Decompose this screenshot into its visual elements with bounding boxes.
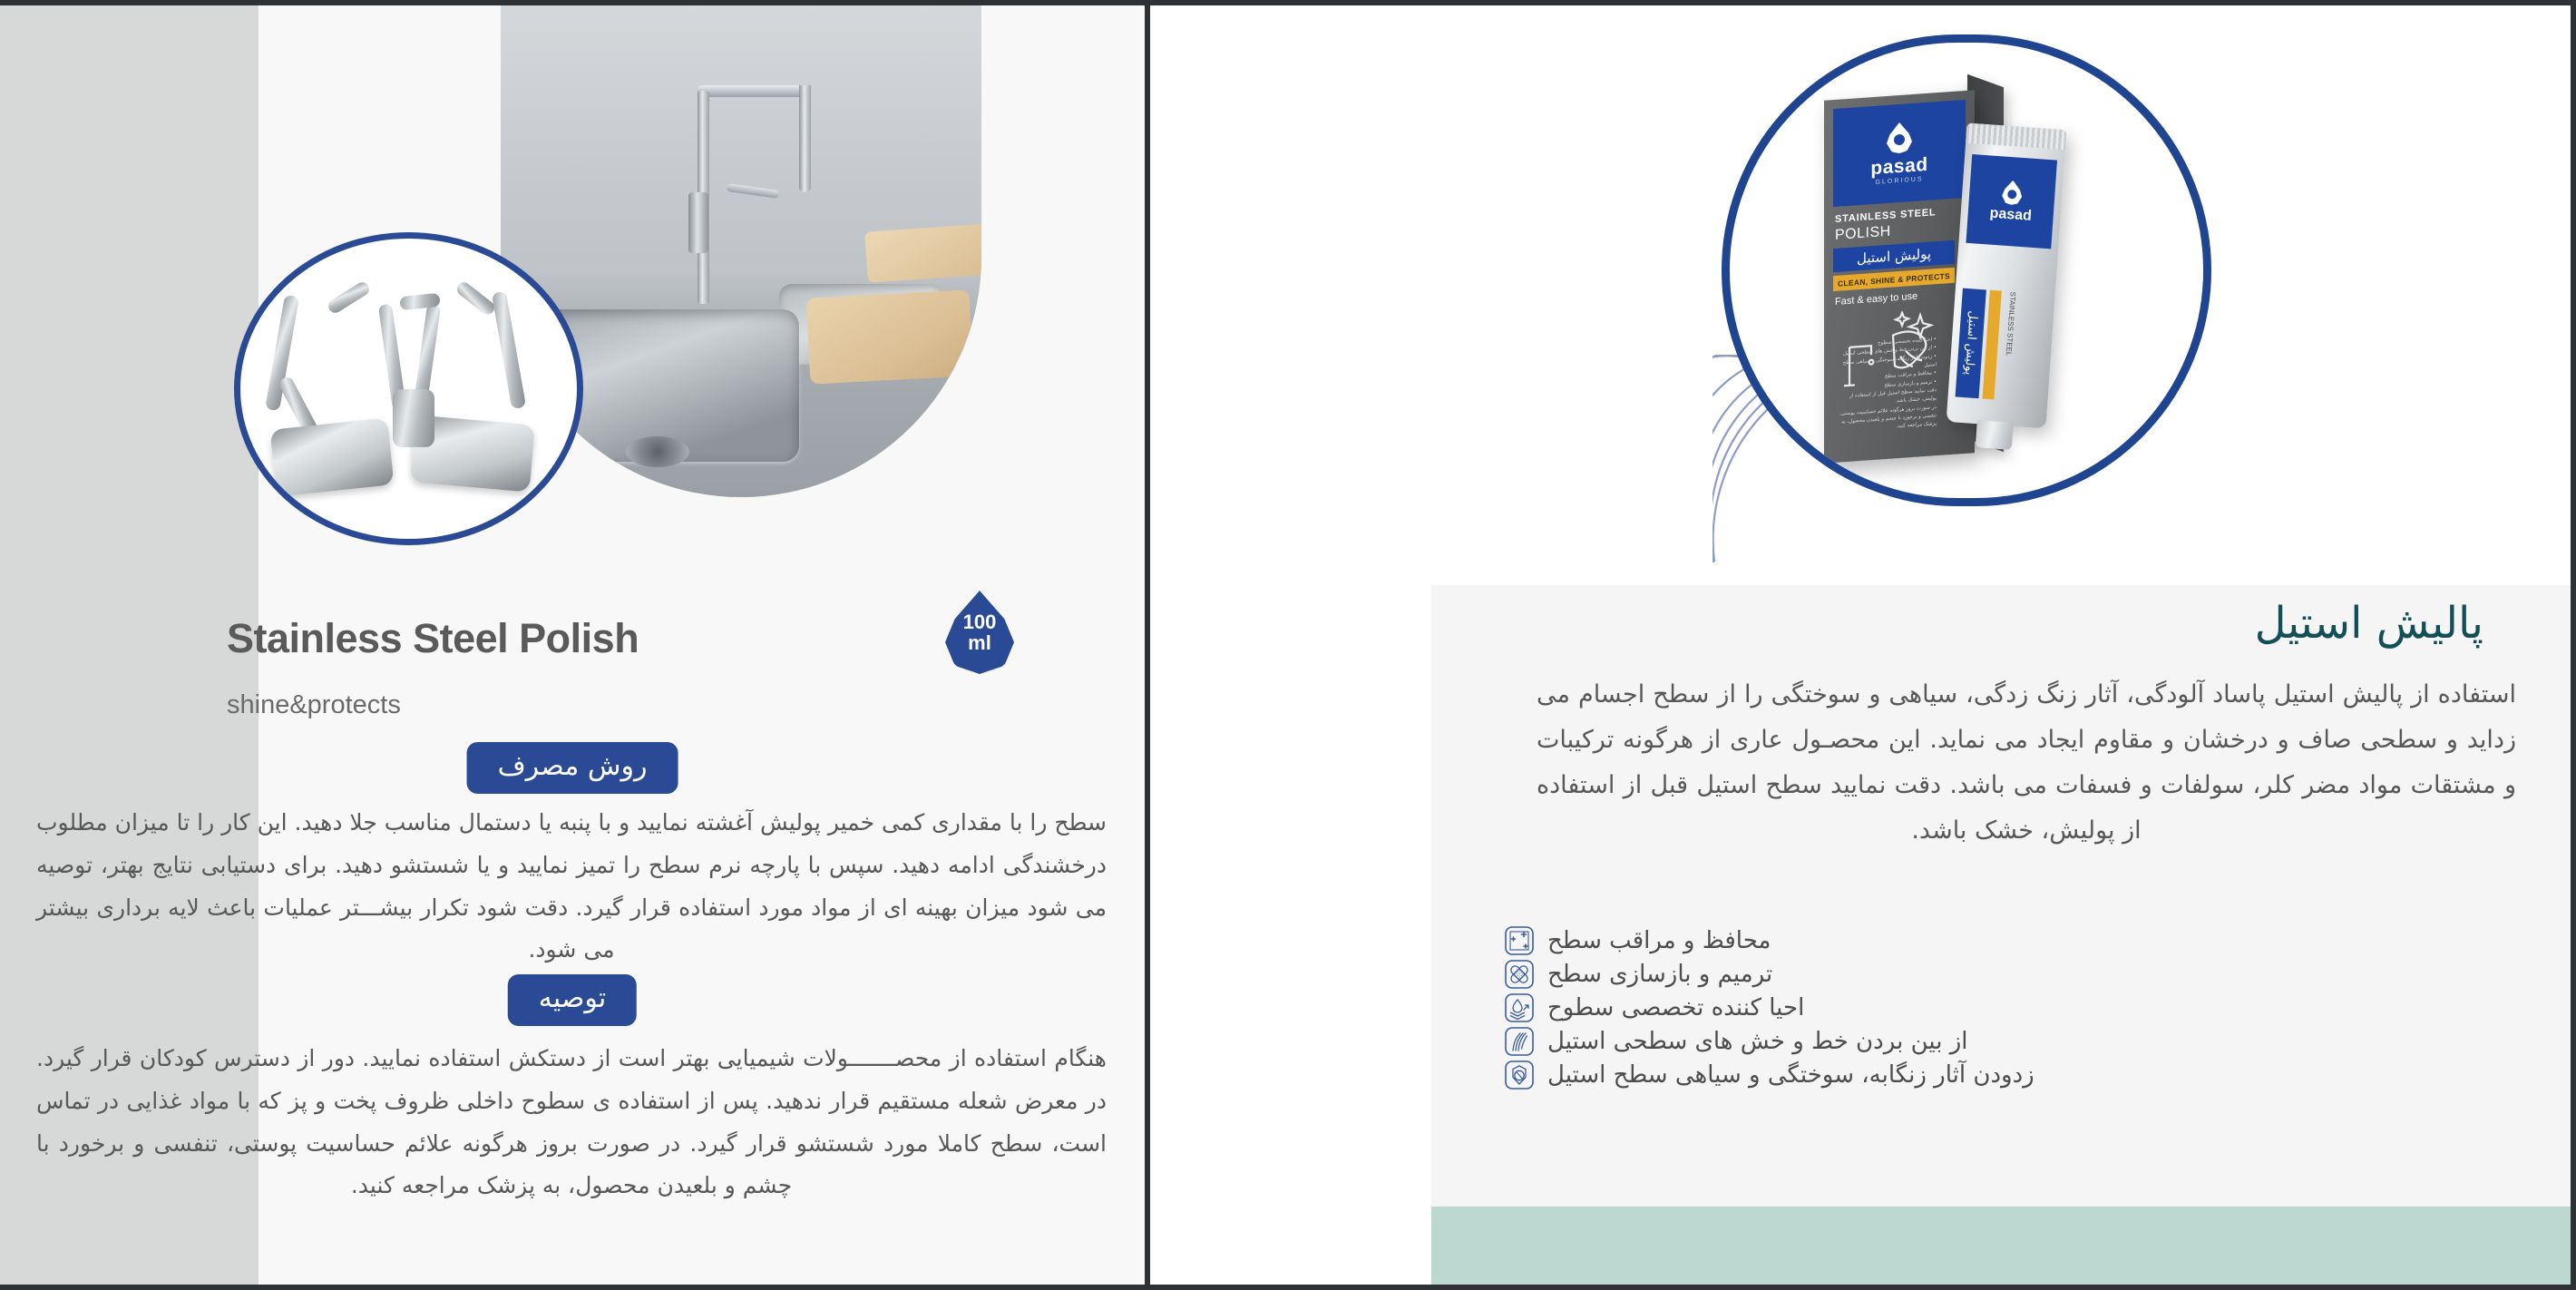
- advice-button[interactable]: توصیه: [508, 974, 637, 1026]
- feature-label: احیا کننده تخصصی سطوح: [1547, 994, 1804, 1021]
- list-item: زدودن آثار زنگابه، سوختگی و سیاهی سطح اس…: [1504, 1060, 2034, 1090]
- package-line-fa: پولیش استیل: [1833, 240, 1955, 272]
- muffler-left: [269, 417, 394, 496]
- polish-buff-icon: [1504, 1060, 1535, 1090]
- sink-drain: [626, 436, 689, 467]
- section-heading: پالیش استیل: [2255, 598, 2483, 649]
- left-product-panel: Stainless Steel Polish shine&protects 10…: [0, 5, 1145, 1285]
- tube-cap: [1976, 420, 2014, 450]
- tube-brand-name: pasad: [1989, 205, 2032, 224]
- pipe-5: [454, 279, 497, 317]
- package-tube: pasad پولیش استیل STAINLESS STEEL: [1947, 123, 2067, 429]
- volume-badge: 100 ml: [945, 591, 1014, 674]
- list-item: محافظ و مراقب سطح: [1504, 925, 1771, 956]
- sparkle-surface-icon: [1504, 925, 1535, 956]
- package-brand-block: pasad GLORIOUS: [1833, 100, 1966, 207]
- brand-droplet-icon: [1887, 122, 1912, 154]
- page-root: Stainless Steel Polish shine&protects 10…: [0, 0, 2576, 1290]
- package-line-en-2: POLISH: [1835, 224, 1891, 244]
- pipe-2: [326, 279, 371, 315]
- feature-label: ترمیم و بازسازی سطح: [1547, 961, 1772, 988]
- description-card: پالیش استیل استفاده از پالیش استیل پاساد…: [1431, 585, 2571, 1211]
- package-fast-easy: Fast & easy to use: [1835, 291, 1917, 308]
- product-tagline: shine&protects: [0, 690, 1145, 720]
- cutting-board-front: [806, 289, 974, 384]
- tube-crimp: [1966, 123, 2066, 151]
- volume-unit: ml: [968, 632, 991, 653]
- feature-label: محافظ و مراقب سطح: [1547, 927, 1771, 954]
- bottom-teal-bar: [1431, 1207, 2571, 1285]
- feature-list: محافظ و مراقب سطح ترمیم و بازسازی سطح: [1504, 925, 2520, 1090]
- package-fine-print: • احیا کننده تخصصی سطوح• از بین بردن خط …: [1837, 336, 1937, 435]
- faucet-base: [688, 192, 708, 253]
- volume-amount: 100: [963, 611, 997, 632]
- list-item: ترمیم و بازسازی سطح: [1504, 959, 1772, 990]
- usage-instructions-text: سطح را با مقداری کمی خمیر پولیش آغشته نم…: [36, 802, 1107, 972]
- feature-label: زدودن آثار زنگابه، سوختگی و سیاهی سطح اس…: [1547, 1061, 2034, 1089]
- right-description-panel: STAINLESS STEEL pasad GLORIOUS STAINLESS…: [1150, 5, 2571, 1285]
- list-item: احیا کننده تخصصی سطوح: [1504, 992, 1804, 1023]
- droplet-layers-icon: [1504, 992, 1535, 1023]
- center-resonator: [393, 389, 434, 447]
- usage-instructions-button[interactable]: روش مصرف: [467, 742, 678, 794]
- pipe-6: [492, 291, 526, 410]
- tube-droplet-icon: [2002, 180, 2024, 205]
- faucet-arm: [698, 85, 808, 97]
- package-line-en-1: STAINLESS STEEL: [1835, 207, 1936, 225]
- cutting-board-back: [864, 223, 981, 282]
- steel-exhaust-pipes-photo: [234, 232, 583, 545]
- scratch-lines-icon: [1504, 1026, 1535, 1057]
- advice-text: هنگام استفاده از محصـــــــولات شیمیایی …: [36, 1038, 1107, 1207]
- faucet-spout: [799, 85, 811, 192]
- feature-label: از بین بردن خط و خش های سطحی استیل: [1547, 1028, 1968, 1055]
- package-side-vertical-text: STAINLESS STEEL: [2180, 195, 2210, 506]
- hero-product-circle: STAINLESS STEEL pasad GLORIOUS STAINLESS…: [1722, 34, 2211, 506]
- list-item: از بین بردن خط و خش های سطحی استیل: [1504, 1026, 1968, 1057]
- bandage-repair-icon: [1504, 959, 1535, 990]
- tube-line-fa: پولیش استیل: [1956, 288, 1986, 399]
- section-description: استفاده از پالیش استیل پاساد آلودگی، آثا…: [1537, 672, 2516, 854]
- tube-brand-block: pasad: [1966, 154, 2057, 249]
